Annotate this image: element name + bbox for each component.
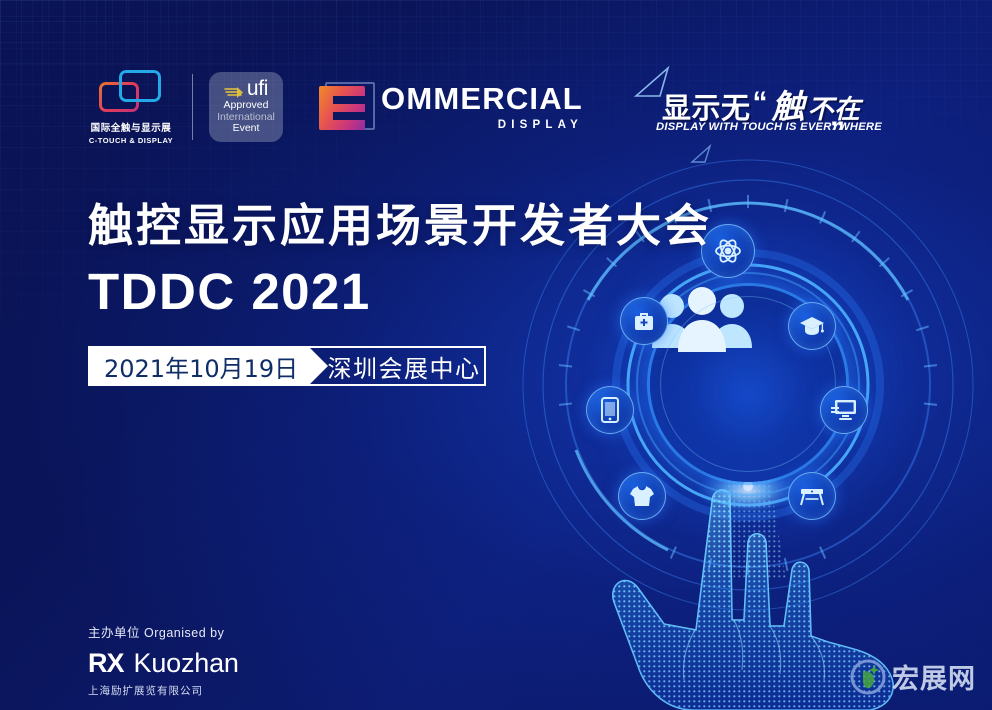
watermark-text: 宏展网 (892, 657, 976, 696)
node-medical[interactable] (620, 297, 668, 345)
organiser-label-cn: 主办单位 (88, 626, 140, 640)
atom-icon (714, 237, 742, 265)
two-overlapping-rounded-squares-icon (99, 70, 163, 114)
desktop-monitor-icon (831, 398, 857, 422)
ctouch-name-cn: 国际全触与显示展 (91, 120, 172, 134)
commercial-word: OMMERCIAL (381, 83, 583, 114)
ufi-swoosh-icon (224, 86, 244, 99)
smartphone-icon (601, 397, 619, 423)
graduation-cap-icon (799, 314, 825, 338)
ufi-line-approved: Approved (224, 100, 269, 111)
node-monitor[interactable] (820, 386, 868, 434)
node-furniture[interactable] (788, 472, 836, 520)
organiser-label: 主办单位 Organised by (88, 622, 239, 641)
ctouch-name-en: C-TOUCH & DISPLAY (89, 136, 173, 145)
page-title-cn: 触控显示应用场景开发者大会 (88, 203, 712, 248)
logo-divider (192, 74, 193, 140)
circle-leaf-star-logo-icon (850, 659, 886, 695)
ufi-wordmark: ufi (247, 80, 268, 99)
organiser-label-en: Organised by (144, 626, 224, 640)
date-venue-bar: 2021年10月19日 深圳会展中心 (88, 346, 486, 386)
slogan-quote-close: ” (830, 116, 845, 150)
organiser-block: 主办单位 Organised by RX Kuozhan 上海励扩展览有限公司 (88, 622, 239, 698)
rx-brand-mark: RX (88, 648, 124, 679)
kuozhan-brand-name: Kuozhan (134, 648, 239, 679)
ufi-badge[interactable]: ufi Approved International Event (209, 72, 283, 142)
medical-kit-icon (632, 309, 656, 333)
date-chip: 2021年10月19日 (90, 348, 308, 384)
decorative-triangle-small-icon (690, 144, 716, 166)
commercial-sub: DISPLAY (381, 119, 583, 131)
event-date: 2021年10月19日 (104, 349, 298, 384)
ctouch-logo[interactable]: 国际全触与显示展 C-TOUCH & DISPLAY (88, 70, 174, 145)
poster-root: 国际全触与显示展 C-TOUCH & DISPLAY ufi Approved … (0, 0, 992, 710)
slogan-block: 显示无 “ 触 不在 DISPLAY WITH TOUCH IS EVERYWH… (634, 58, 894, 158)
node-education[interactable] (788, 302, 836, 350)
gradient-screen-c-icon (319, 80, 379, 134)
site-watermark: 宏展网 (850, 657, 976, 696)
tshirt-icon (629, 484, 655, 508)
page-title-en: TDDC 2021 (88, 266, 371, 317)
ufi-line-international: International (217, 112, 275, 123)
desk-table-icon (799, 485, 825, 507)
organiser-company-cn: 上海励扩展览有限公司 (88, 683, 239, 698)
event-venue: 深圳会展中心 (328, 349, 481, 384)
node-apparel[interactable] (618, 472, 666, 520)
venue-chip: 深圳会展中心 (308, 348, 484, 384)
node-mobile[interactable] (586, 386, 634, 434)
logo-bar: 国际全触与显示展 C-TOUCH & DISPLAY ufi Approved … (88, 66, 583, 148)
slogan-english: DISPLAY WITH TOUCH IS EVERYWHERE (656, 121, 882, 133)
commercial-display-logo[interactable]: OMMERCIAL DISPLAY (319, 80, 583, 134)
ufi-line-event: Event (233, 123, 260, 134)
slogan-quote-open: “ (753, 86, 768, 120)
